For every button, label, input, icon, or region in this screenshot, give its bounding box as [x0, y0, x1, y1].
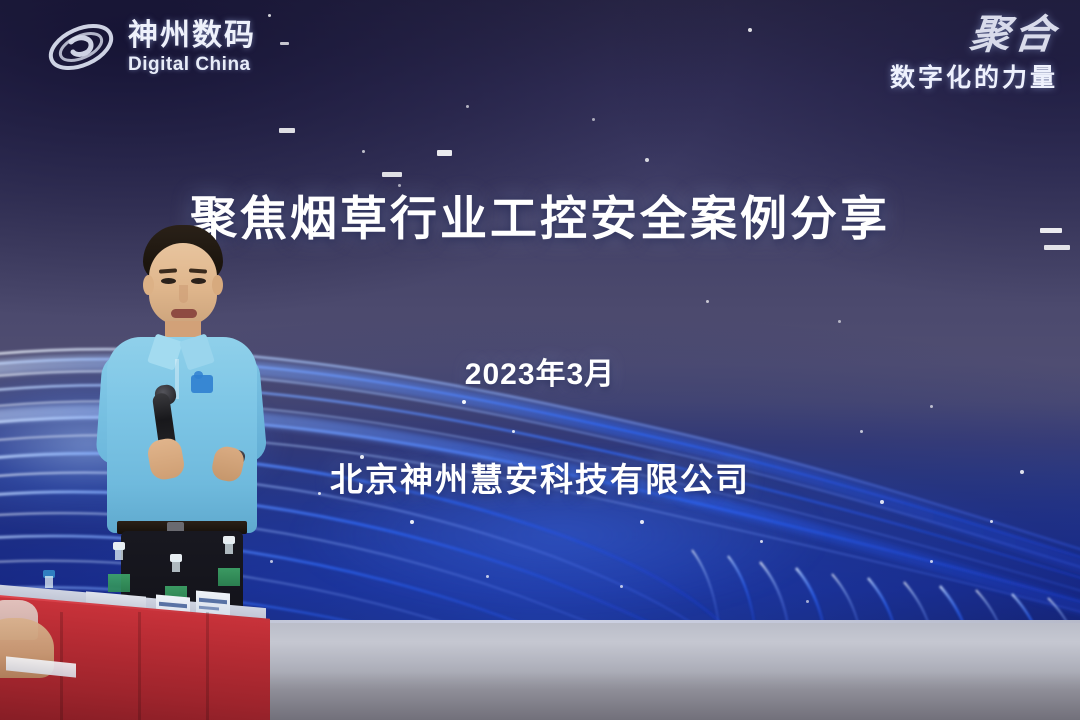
- event-brand-tagline: 数字化的力量: [890, 58, 1058, 94]
- drape-fold: [206, 612, 209, 720]
- name-card-line: [199, 606, 219, 611]
- speaker-eye-left: [161, 278, 176, 284]
- bottle-label: [108, 574, 130, 592]
- logo-english-name: Digital China: [128, 55, 256, 74]
- bottle-label: [218, 568, 240, 586]
- speaker-shirt-logo: [191, 375, 213, 393]
- name-card-line: [199, 598, 227, 604]
- drape-fold: [138, 612, 141, 720]
- event-brand-calligraphy: 聚合: [888, 16, 1060, 54]
- logo-chinese-name: 神州数码: [128, 21, 256, 51]
- name-card-line: [159, 602, 187, 608]
- bottle-neck: [45, 576, 53, 588]
- speaker-ear-left: [143, 275, 154, 295]
- bottle-neck: [115, 548, 123, 560]
- speaker-ear-right: [212, 275, 223, 295]
- conference-stage-photo: 神州数码 Digital China 聚合 数字化的力量 聚焦烟草行业工控安全案…: [0, 0, 1080, 720]
- bottle-neck: [225, 542, 233, 554]
- speaker-eye-right: [191, 278, 206, 284]
- speaker-polo-shirt: [107, 337, 257, 533]
- speaker-mouth: [171, 309, 197, 318]
- event-brand: 聚合 数字化的力量: [890, 16, 1058, 94]
- digital-china-logo: 神州数码 Digital China: [44, 18, 256, 76]
- swirl-galaxy-icon: [44, 18, 118, 76]
- bottle-neck: [172, 560, 180, 572]
- speaker-nose: [179, 285, 188, 303]
